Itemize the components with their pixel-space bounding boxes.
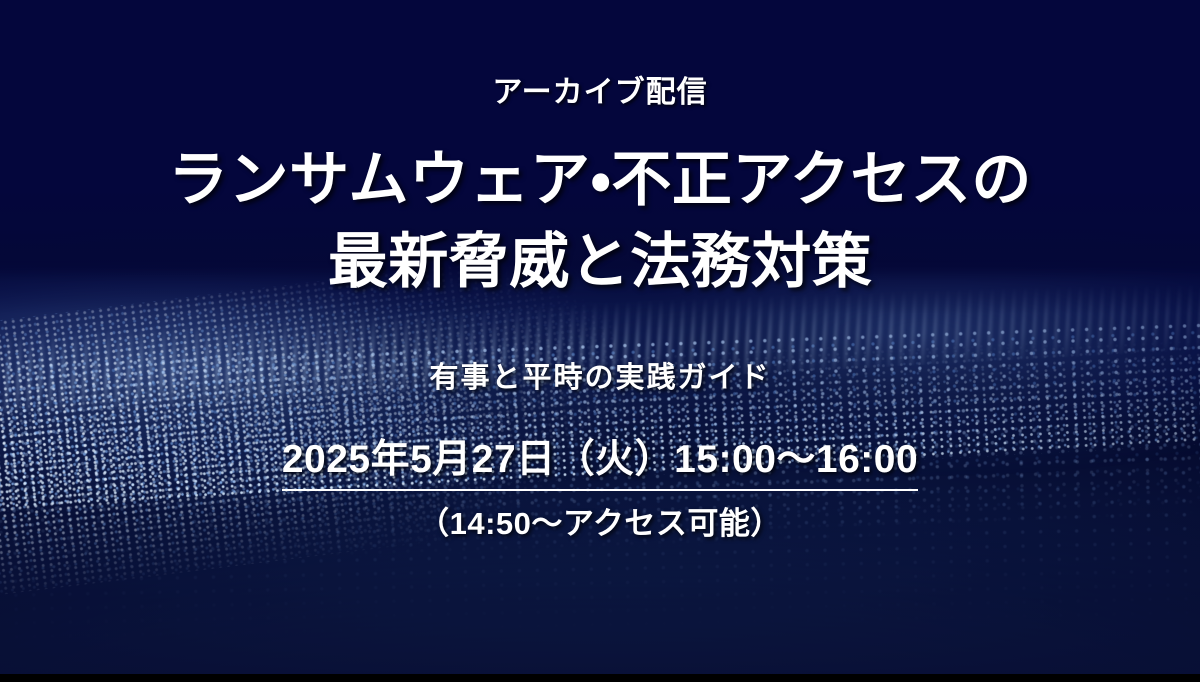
subtitle: 有事と平時の実践ガイド bbox=[429, 364, 770, 393]
access-note: （14:50〜アクセス可能） bbox=[418, 507, 782, 541]
letterbox-bar-bottom bbox=[0, 674, 1200, 682]
event-datetime: 2025年5月27日（火）15:00〜16:00 bbox=[282, 439, 918, 491]
title-line-1: ランサムウェア・不正アクセスの bbox=[168, 144, 1032, 216]
slide-canvas: アーカイブ配信 ランサムウェア・不正アクセスの 最新脅威と法務対策 有事と平時の… bbox=[0, 0, 1200, 682]
title-line-2: 最新脅威と法務対策 bbox=[168, 226, 1032, 298]
page-title: ランサムウェア・不正アクセスの 最新脅威と法務対策 bbox=[168, 144, 1032, 298]
slide-content: アーカイブ配信 ランサムウェア・不正アクセスの 最新脅威と法務対策 有事と平時の… bbox=[0, 0, 1200, 682]
eyebrow-label: アーカイブ配信 bbox=[492, 78, 707, 108]
